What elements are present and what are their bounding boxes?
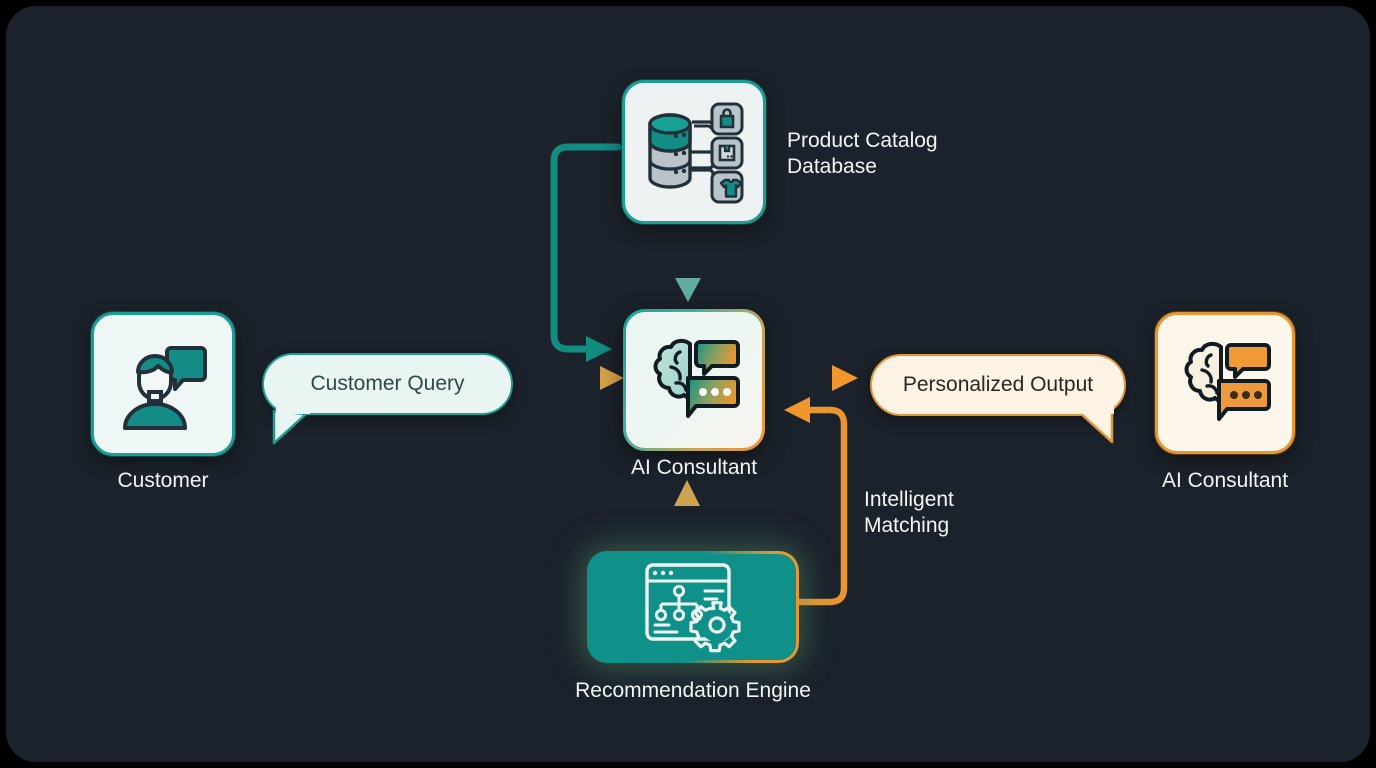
- bubble-customer-query[interactable]: Customer Query: [262, 353, 513, 415]
- bubble-customer-query-text: Customer Query: [310, 372, 464, 396]
- edge-database-elbow-to-ai: [554, 147, 618, 362]
- node-label-ai-consultant-center: AI Consultant: [602, 455, 786, 481]
- edge-engine-to-ai: [674, 480, 700, 544]
- brain-chat-icon: [646, 334, 742, 426]
- node-recommendation-engine[interactable]: [587, 551, 799, 663]
- diagram-canvas: Customer Customer Query: [6, 6, 1370, 762]
- node-label-product-catalog-database: Product Catalog Database: [787, 128, 1007, 180]
- edge-ai-to-output: [768, 365, 858, 391]
- node-ai-consultant-right[interactable]: [1155, 312, 1295, 454]
- node-label-recommendation-engine: Recommendation Engine: [553, 678, 833, 704]
- browser-tree-gear-icon: [641, 559, 745, 655]
- database-catalog-icon: [642, 100, 746, 204]
- node-customer[interactable]: [91, 312, 235, 456]
- node-label-ai-consultant-right: AI Consultant: [1133, 468, 1317, 494]
- bubble-personalized-output-text: Personalized Output: [903, 373, 1093, 397]
- brain-chat-icon: [1177, 337, 1273, 429]
- edge-label-intelligent-matching: Intelligent Matching: [864, 487, 1064, 539]
- edge-database-to-ai: [675, 222, 701, 302]
- node-product-catalog-database[interactable]: [622, 80, 766, 224]
- edge-query-to-ai: [512, 366, 624, 390]
- bubble-personalized-output[interactable]: Personalized Output: [870, 354, 1126, 416]
- customer-avatar-chat-icon: [115, 336, 211, 432]
- node-ai-consultant-center[interactable]: [623, 309, 765, 451]
- screenshot-stage: Customer Customer Query: [0, 0, 1376, 768]
- node-label-customer: Customer: [71, 468, 255, 494]
